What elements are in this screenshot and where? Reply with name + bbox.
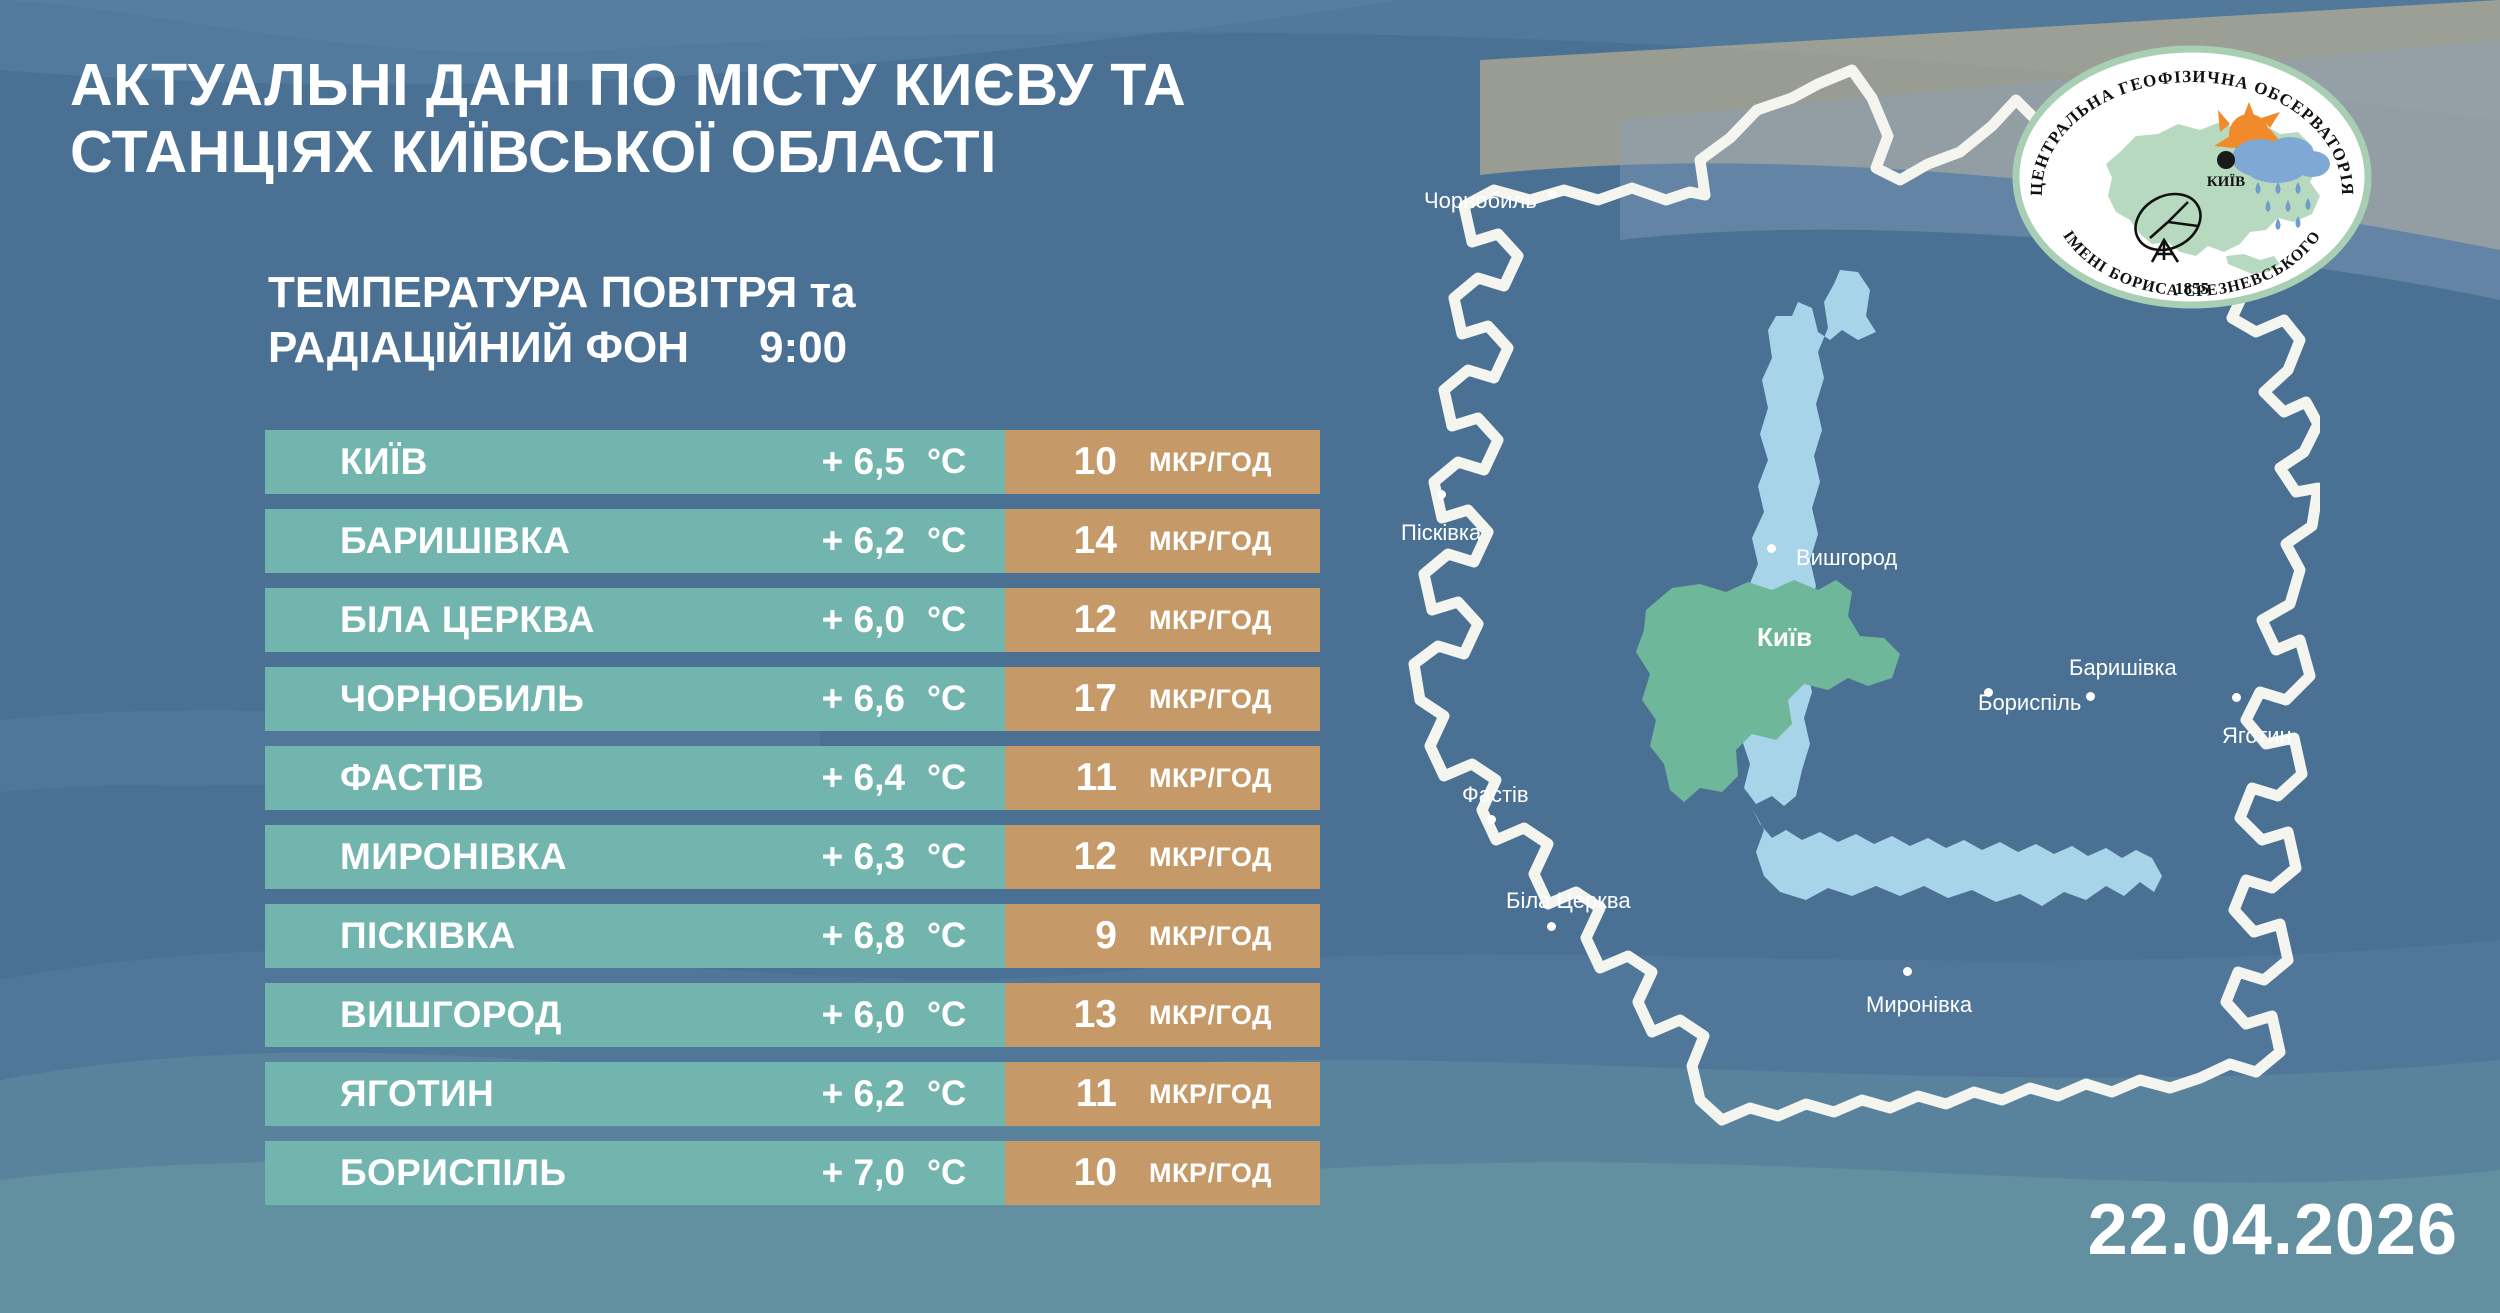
station-name: КИЇВ xyxy=(340,441,777,483)
temperature-value: + 6,6 xyxy=(777,678,927,720)
temperature-unit: °С xyxy=(927,837,1005,877)
radiation-unit: МКР/ГОД xyxy=(1123,1158,1272,1189)
table-row-right: 10МКР/ГОД xyxy=(1005,1141,1320,1205)
table-row: ФАСТІВ+ 6,4°С11МКР/ГОД xyxy=(265,746,1320,810)
map-city-dot xyxy=(1548,190,1557,199)
table-row-right: 12МКР/ГОД xyxy=(1005,825,1320,889)
map-city-dot xyxy=(1487,815,1496,824)
radiation-unit: МКР/ГОД xyxy=(1123,447,1272,478)
station-name: ВИШГОРОД xyxy=(340,994,777,1036)
radiation-unit: МКР/ГОД xyxy=(1123,684,1272,715)
table-row: МИРОНІВКА+ 6,3°С12МКР/ГОД xyxy=(265,825,1320,889)
table-row: БІЛА ЦЕРКВА+ 6,0°С12МКР/ГОД xyxy=(265,588,1320,652)
station-name: БОРИСПІЛЬ xyxy=(340,1152,777,1194)
temperature-value: + 6,3 xyxy=(777,836,927,878)
map-city-dot xyxy=(2086,692,2095,701)
radiation-unit: МКР/ГОД xyxy=(1123,605,1272,636)
table-row-right: 14МКР/ГОД xyxy=(1005,509,1320,573)
radiation-unit: МКР/ГОД xyxy=(1123,526,1272,557)
station-name: ЧОРНОБИЛЬ xyxy=(340,678,777,720)
map-city-dot xyxy=(1547,922,1556,931)
temperature-value: + 6,4 xyxy=(777,757,927,799)
temperature-unit: °С xyxy=(927,521,1005,561)
map-city-label: Яготин xyxy=(2222,723,2292,749)
temperature-unit: °С xyxy=(927,758,1005,798)
map-city-label: Фастів xyxy=(1462,782,1529,808)
table-row-left: ВИШГОРОД+ 6,0°С xyxy=(265,983,1005,1047)
radiation-unit: МКР/ГОД xyxy=(1123,842,1272,873)
table-row-right: 13МКР/ГОД xyxy=(1005,983,1320,1047)
radiation-value: 12 xyxy=(1005,598,1123,642)
table-row-right: 12МКР/ГОД xyxy=(1005,588,1320,652)
radiation-unit: МКР/ГОД xyxy=(1123,1000,1272,1031)
map-city-dot xyxy=(1903,967,1912,976)
observatory-logo: КИЇВ ЦЕНТРАЛЬНА ГЕОФІЗИЧНА ОБСЕРВАТОРІЯ … xyxy=(2012,42,2372,312)
map-city-label: Баришівка xyxy=(2069,655,2177,681)
table-row: КИЇВ+ 6,5°С10МКР/ГОД xyxy=(265,430,1320,494)
table-row-left: МИРОНІВКА+ 6,3°С xyxy=(265,825,1005,889)
map-city-label: Пісківка xyxy=(1401,520,1481,546)
temperature-unit: °С xyxy=(927,1074,1005,1114)
radiation-value: 14 xyxy=(1005,519,1123,563)
table-row-right: 11МКР/ГОД xyxy=(1005,746,1320,810)
table-row: БАРИШІВКА+ 6,2°С14МКР/ГОД xyxy=(265,509,1320,573)
radiation-value: 10 xyxy=(1005,440,1123,484)
table-row-left: ФАСТІВ+ 6,4°С xyxy=(265,746,1005,810)
temperature-value: + 6,2 xyxy=(777,520,927,562)
table-row-left: КИЇВ+ 6,5°С xyxy=(265,430,1005,494)
table-row-left: БІЛА ЦЕРКВА+ 6,0°С xyxy=(265,588,1005,652)
radiation-value: 10 xyxy=(1005,1151,1123,1195)
map-city-label: Київ xyxy=(1757,622,1812,653)
table-row-left: ПІСКІВКА+ 6,8°С xyxy=(265,904,1005,968)
radiation-unit: МКР/ГОД xyxy=(1123,921,1272,952)
radiation-unit: МКР/ГОД xyxy=(1123,763,1272,794)
radiation-value: 11 xyxy=(1005,1072,1123,1116)
table-row-right: 11МКР/ГОД xyxy=(1005,1062,1320,1126)
table-row-left: ЯГОТИН+ 6,2°С xyxy=(265,1062,1005,1126)
kyiv-marker-dot xyxy=(2217,151,2235,169)
radiation-value: 9 xyxy=(1005,914,1123,958)
radiation-value: 11 xyxy=(1005,756,1123,800)
map-city-dot xyxy=(1767,544,1776,553)
table-row: ЯГОТИН+ 6,2°С11МКР/ГОД xyxy=(265,1062,1320,1126)
subtitle: ТЕМПЕРАТУРА ПОВІТРЯ та РАДІАЦІЙНИЙ ФОН9:… xyxy=(268,265,1168,375)
map-city-label: Вишгород xyxy=(1796,545,1897,571)
radiation-value: 17 xyxy=(1005,677,1123,721)
logo-svg: КИЇВ ЦЕНТРАЛЬНА ГЕОФІЗИЧНА ОБСЕРВАТОРІЯ … xyxy=(2012,42,2372,312)
page-title-line1: АКТУАЛЬНІ ДАНІ ПО МІСТУ КИЄВУ ТА xyxy=(70,52,1186,118)
temperature-value: + 6,2 xyxy=(777,1073,927,1115)
date-stamp: 22.04.2026 xyxy=(2088,1189,2458,1271)
station-name: ФАСТІВ xyxy=(340,757,777,799)
map-city-dot xyxy=(1437,490,1446,499)
page-title-line2: СТАНЦІЯХ КИЇВСЬКОЇ ОБЛАСТІ xyxy=(70,119,1470,186)
radiation-value: 13 xyxy=(1005,993,1123,1037)
station-name: МИРОНІВКА xyxy=(340,836,777,878)
table-row-right: 10МКР/ГОД xyxy=(1005,430,1320,494)
measurement-time: 9:00 xyxy=(759,323,847,372)
logo-year: 1855 xyxy=(2175,279,2209,298)
table-row-left: БОРИСПІЛЬ+ 7,0°С xyxy=(265,1141,1005,1205)
dnipro-river-south xyxy=(1752,808,2162,906)
radiation-unit: МКР/ГОД xyxy=(1123,1079,1272,1110)
map-city-label: Біла Церква xyxy=(1506,888,1631,914)
temperature-unit: °С xyxy=(927,442,1005,482)
station-name: ЯГОТИН xyxy=(340,1073,777,1115)
subtitle-line1: ТЕМПЕРАТУРА ПОВІТРЯ та xyxy=(268,268,856,317)
page-title: АКТУАЛЬНІ ДАНІ ПО МІСТУ КИЄВУ ТА СТАНЦІЯ… xyxy=(70,52,1470,185)
table-row-left: ЧОРНОБИЛЬ+ 6,6°С xyxy=(265,667,1005,731)
temperature-unit: °С xyxy=(927,1153,1005,1193)
table-row-right: 9МКР/ГОД xyxy=(1005,904,1320,968)
logo-kyiv-label: КИЇВ xyxy=(2207,174,2245,190)
station-data-table: КИЇВ+ 6,5°С10МКР/ГОДБАРИШІВКА+ 6,2°С14МК… xyxy=(265,430,1320,1220)
table-row: БОРИСПІЛЬ+ 7,0°С10МКР/ГОД xyxy=(265,1141,1320,1205)
temperature-value: + 6,0 xyxy=(777,994,927,1036)
temperature-value: + 6,0 xyxy=(777,599,927,641)
map-city-label: Чорнобиль xyxy=(1424,188,1537,214)
table-row: ПІСКІВКА+ 6,8°С9МКР/ГОД xyxy=(265,904,1320,968)
station-name: ПІСКІВКА xyxy=(340,915,777,957)
table-row-right: 17МКР/ГОД xyxy=(1005,667,1320,731)
temperature-unit: °С xyxy=(927,916,1005,956)
map-city-dot xyxy=(2232,693,2241,702)
table-row: ВИШГОРОД+ 6,0°С13МКР/ГОД xyxy=(265,983,1320,1047)
table-row: ЧОРНОБИЛЬ+ 6,6°С17МКР/ГОД xyxy=(265,667,1320,731)
station-name: БАРИШІВКА xyxy=(340,520,777,562)
subtitle-line2: РАДІАЦІЙНИЙ ФОН xyxy=(268,323,689,372)
station-name: БІЛА ЦЕРКВА xyxy=(340,599,777,641)
table-row-left: БАРИШІВКА+ 6,2°С xyxy=(265,509,1005,573)
map-city-label: Бориспіль xyxy=(1978,690,2081,716)
subtitle-line2-wrap: РАДІАЦІЙНИЙ ФОН9:00 xyxy=(268,320,1168,375)
temperature-value: + 6,5 xyxy=(777,441,927,483)
temperature-value: + 7,0 xyxy=(777,1152,927,1194)
radiation-value: 12 xyxy=(1005,835,1123,879)
temperature-unit: °С xyxy=(927,600,1005,640)
temperature-value: + 6,8 xyxy=(777,915,927,957)
map-city-label: Миронівка xyxy=(1866,992,1972,1018)
temperature-unit: °С xyxy=(927,679,1005,719)
temperature-unit: °С xyxy=(927,995,1005,1035)
